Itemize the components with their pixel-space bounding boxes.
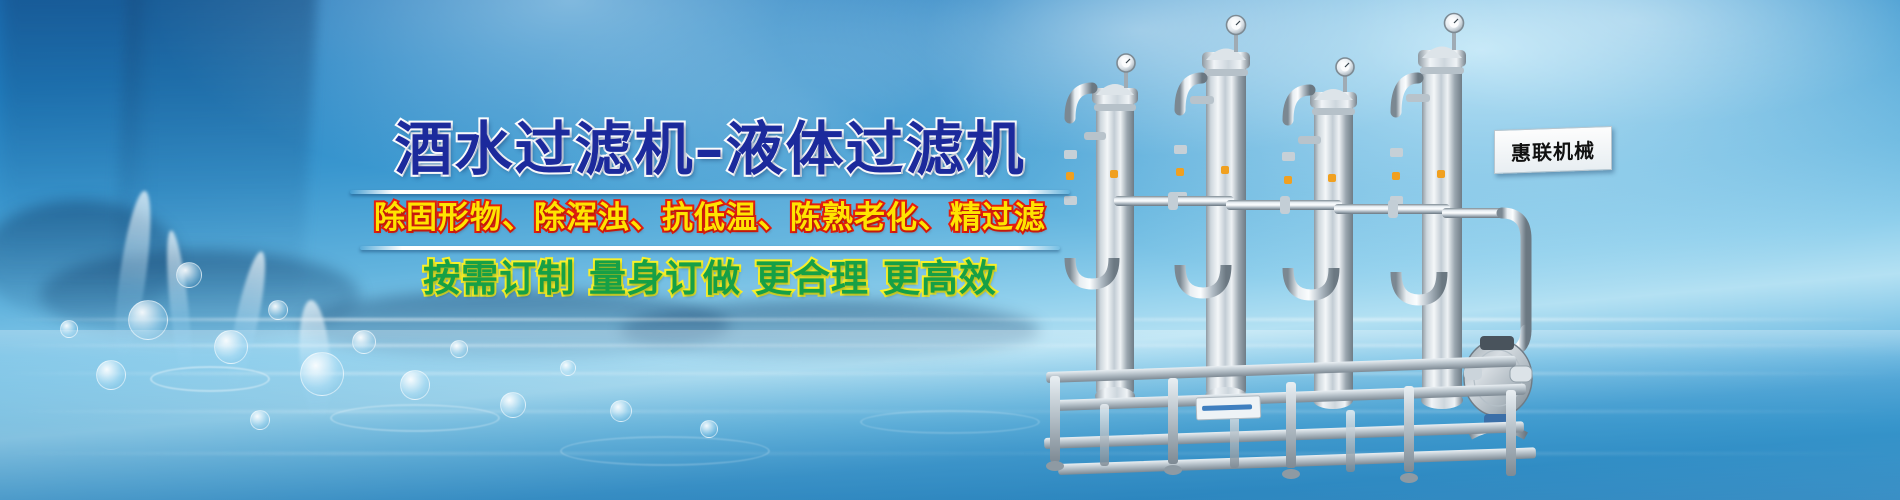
water-bubble-13 — [60, 320, 78, 338]
water-bubble-5 — [300, 352, 344, 396]
left-water-column-back — [0, 0, 140, 280]
promise-text: 按需订制 量身订做 更合理 更高效 — [330, 256, 1090, 302]
water-ripple-4 — [860, 410, 1040, 434]
divider-bottom — [360, 246, 1060, 250]
wave-line-4 — [0, 410, 1900, 413]
water-ripple-2 — [330, 404, 500, 432]
dark-water-blob-1 — [40, 250, 360, 340]
water-bubble-2 — [176, 262, 202, 288]
water-splash-stream-3 — [222, 249, 273, 391]
dark-water-blob-3 — [620, 300, 1040, 360]
water-splash-stream-4 — [296, 299, 334, 421]
water-ripple-3 — [560, 436, 770, 466]
water-bubble-7 — [400, 370, 430, 400]
wave-line-5 — [0, 452, 1900, 455]
promotional-banner: 酒水过滤机–液体过滤机 除固形物、除浑浊、抗低温、陈熟老化、精过滤 按需订制 量… — [0, 0, 1900, 500]
feature-list-text: 除固形物、除浑浊、抗低温、陈熟老化、精过滤 — [330, 200, 1090, 238]
left-water-column — [111, 0, 318, 300]
filter-vessel-3 — [1282, 58, 1357, 409]
divider-top — [350, 190, 1070, 194]
water-bubble-12 — [96, 360, 126, 390]
water-bubble-11 — [610, 400, 632, 422]
water-bubble-1 — [128, 300, 168, 340]
water-splash-stream-1 — [108, 189, 157, 361]
water-splash-stream-2 — [162, 229, 196, 380]
water-bubble-6 — [352, 330, 376, 354]
water-bubble-10 — [560, 360, 576, 376]
wave-line-2 — [0, 344, 1900, 347]
water-bubble-4 — [268, 300, 288, 320]
wave-line-3 — [0, 372, 1900, 375]
banner-copy: 酒水过滤机–液体过滤机 除固形物、除浑浊、抗低温、陈熟老化、精过滤 按需订制 量… — [330, 118, 1090, 303]
water-bubble-3 — [214, 330, 248, 364]
page-title: 酒水过滤机–液体过滤机 — [330, 118, 1090, 181]
water-bubble-9 — [500, 392, 526, 418]
dark-water-blob-4 — [0, 200, 180, 320]
water-bubble-15 — [700, 420, 718, 438]
product-photo-filter-machine — [1040, 0, 1600, 500]
pump-piping — [1502, 213, 1526, 352]
water-ripple-1 — [150, 366, 270, 392]
equipment-frame — [1044, 356, 1536, 483]
wave-line-1 — [0, 318, 1900, 321]
water-bubble-14 — [250, 410, 270, 430]
water-bubble-8 — [450, 340, 468, 358]
brand-plate: 惠联机械 — [1494, 126, 1612, 174]
water-surface-layer — [0, 330, 1900, 500]
brand-plate-label: 惠联机械 — [1511, 134, 1595, 166]
frame-label-sticker — [1196, 396, 1261, 420]
filter-vessel-2 — [1174, 16, 1250, 406]
